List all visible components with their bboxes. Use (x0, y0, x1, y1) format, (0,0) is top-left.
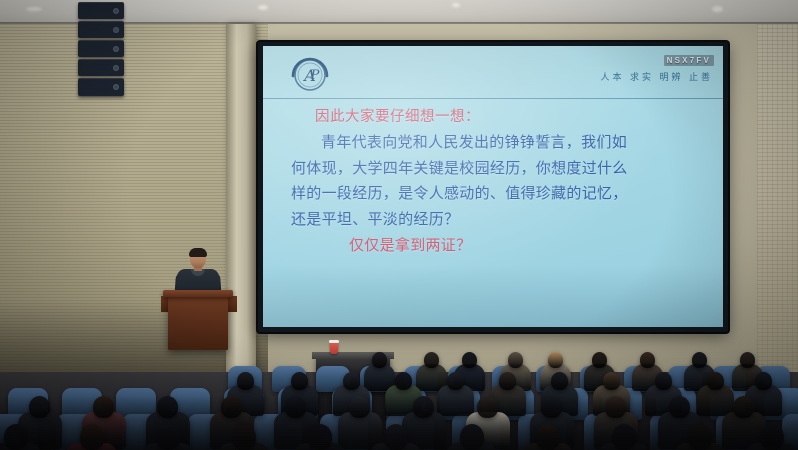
audience-member-head (462, 352, 477, 368)
line-array-loudspeaker (78, 0, 124, 98)
audience-member-head (477, 396, 498, 418)
ceiling-light (258, 5, 268, 10)
audience-member-head (349, 396, 370, 418)
audience-member-head (221, 396, 242, 418)
loudspeaker-module (78, 78, 124, 96)
audience-member-head (541, 396, 562, 418)
loudspeaker-module (78, 21, 124, 38)
loudspeaker-module (78, 59, 124, 76)
audience-member-head (669, 396, 690, 418)
audience-member-head (384, 424, 408, 450)
audience-member-head (536, 424, 560, 450)
audience-member-head (603, 372, 620, 390)
audience-member-head (655, 372, 672, 390)
audience-member-head (499, 372, 516, 390)
right-wall-acoustic-panels (757, 24, 798, 384)
audience-member-head (612, 424, 636, 450)
audience-member-head (157, 396, 178, 418)
audience-member-head (692, 352, 707, 368)
audience-member-head (707, 372, 724, 390)
podium-top-surface (163, 290, 233, 297)
slide-heading: 因此大家要仔细想一想： (315, 104, 723, 130)
audience-member-head (156, 424, 180, 450)
audience-member-head (508, 352, 523, 368)
loudspeaker-module (78, 40, 124, 57)
audience-member-head (285, 396, 306, 418)
audience-member-head (760, 424, 784, 450)
slide-body-line: 样的一段经历，是令人感动的、值得珍藏的记忆， (291, 181, 723, 207)
audience-member-head (372, 352, 387, 368)
paper-cup-lid (329, 340, 339, 343)
audience-member-head (447, 372, 464, 390)
audience-member-head (424, 352, 439, 368)
slide-watermark: NSX7FV (664, 55, 714, 66)
slide-body-line: 何体现，大学四年关键是校园经历，你想度过什么 (291, 156, 723, 182)
loudspeaker-driver-icon (113, 27, 119, 33)
audience-member-head (291, 372, 308, 390)
audience-member-head (640, 352, 655, 368)
audience-member-head (740, 352, 755, 368)
ceiling-light (712, 6, 723, 12)
audience-member-head (4, 424, 28, 450)
audience-member-head (232, 424, 256, 450)
audience-member-head (551, 372, 568, 390)
loudspeaker-driver-icon (113, 8, 119, 14)
audience-member-head (688, 424, 712, 450)
podium-right-wing (227, 296, 237, 312)
university-motto: 人本 求实 明辨 止善 (600, 70, 713, 83)
audience-member-head (755, 372, 772, 390)
slide-closing-question: 仅仅是拿到两证？ (349, 232, 723, 259)
loudspeaker-module (78, 2, 124, 19)
audience-member-head (395, 372, 412, 390)
wall-pillar (226, 24, 256, 380)
audience-member-head (93, 396, 114, 418)
university-emblem-icon: A P (288, 52, 332, 96)
audience-member-head (237, 372, 254, 390)
svg-text:P: P (310, 68, 320, 83)
red-paper-cup (330, 342, 338, 354)
ceiling-light (452, 3, 460, 7)
ceiling-light (26, 7, 42, 11)
audience-member-head (29, 396, 50, 418)
loudspeaker-driver-icon (113, 65, 119, 71)
projection-screen: A P NSX7FV 人本 求实 明辨 止善 因此大家要仔细想一想： 青年代表向… (263, 46, 723, 327)
audience-member-head (460, 424, 484, 450)
slide-header-divider (263, 98, 723, 99)
audience-member-head (80, 424, 104, 450)
slide-paragraph: 青年代表向党和人民发出的铮铮誓言，我们如何体现，大学四年关键是校园经历，你想度过… (291, 130, 723, 232)
audience-member-head (605, 396, 626, 418)
loudspeaker-driver-icon (113, 84, 119, 90)
audience-member-head (308, 424, 332, 450)
audience-member-head (733, 396, 754, 418)
slide-body-line: 青年代表向党和人民发出的铮铮誓言，我们如 (291, 130, 723, 156)
lecture-hall-photo: A P NSX7FV 人本 求实 明辨 止善 因此大家要仔细想一想： 青年代表向… (0, 0, 798, 450)
wooden-podium (168, 294, 228, 350)
loudspeaker-driver-icon (113, 46, 119, 52)
presenter-hair (189, 248, 207, 257)
audience-member-head (592, 352, 607, 368)
slide-body: 因此大家要仔细想一想： 青年代表向党和人民发出的铮铮誓言，我们如何体现，大学四年… (263, 104, 723, 259)
audience-member-head (343, 372, 360, 390)
slide-body-line: 还是平坦、平淡的经历？ (291, 207, 723, 233)
audience-member-head (413, 396, 434, 418)
audience-member-head (548, 352, 563, 368)
